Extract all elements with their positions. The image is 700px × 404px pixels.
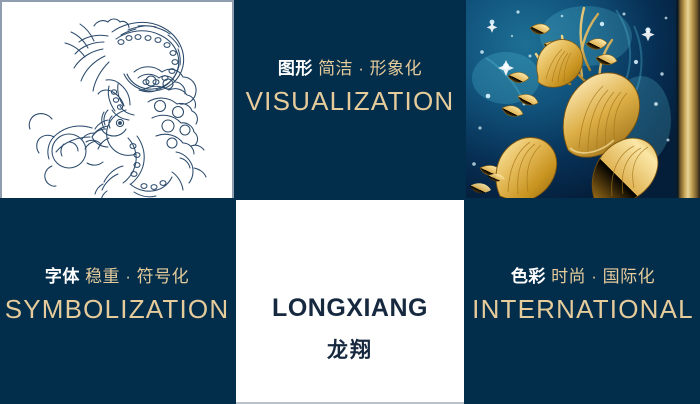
international-cn-descriptor: 时尚 · 国际化: [551, 267, 655, 286]
visualization-latin: VISUALIZATION: [236, 88, 464, 114]
visualization-cn-label: 图形: [278, 59, 313, 78]
chinese-dragon-icon: [8, 6, 230, 198]
ginkgo-artwork-panel: [466, 0, 700, 198]
brand-logo-panel: LONGXIANG 龙翔: [236, 200, 464, 404]
international-kicker: 色彩 时尚 · 国际化: [466, 268, 700, 285]
gold-frame-strip: [676, 0, 700, 198]
international-panel: 色彩 时尚 · 国际化 INTERNATIONAL: [466, 200, 700, 404]
brand-concept-board: 图形 简洁 · 形象化 VISUALIZATION: [0, 0, 700, 404]
international-text-block: 色彩 时尚 · 国际化 INTERNATIONAL: [466, 268, 700, 322]
logo-text-block: LONGXIANG 龙翔: [236, 296, 464, 361]
international-cn-label: 色彩: [511, 267, 546, 286]
symbolization-latin: SYMBOLIZATION: [0, 296, 234, 322]
visualization-kicker: 图形 简洁 · 形象化: [236, 60, 464, 77]
symbolization-panel: 字体 稳重 · 符号化 SYMBOLIZATION: [0, 200, 234, 404]
symbolization-cn-label: 字体: [45, 267, 80, 286]
dragon-artwork-panel: [0, 0, 234, 198]
symbolization-text-block: 字体 稳重 · 符号化 SYMBOLIZATION: [0, 268, 234, 322]
visualization-panel: 图形 简洁 · 形象化 VISUALIZATION: [236, 0, 464, 198]
logo-latin-name: LONGXIANG: [236, 296, 464, 321]
symbolization-cn-descriptor: 稳重 · 符号化: [85, 267, 189, 286]
golden-ginkgo-leaves-icon: [466, 0, 676, 198]
symbolization-kicker: 字体 稳重 · 符号化: [0, 268, 234, 285]
international-latin: INTERNATIONAL: [466, 296, 700, 322]
visualization-cn-descriptor: 简洁 · 形象化: [318, 59, 422, 78]
visualization-text-block: 图形 简洁 · 形象化 VISUALIZATION: [236, 60, 464, 114]
logo-chinese-name: 龙翔: [236, 340, 464, 361]
